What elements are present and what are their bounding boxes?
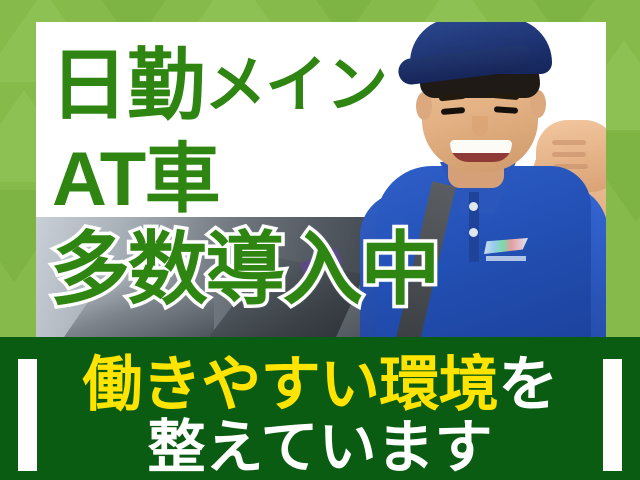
- footer-line-2: 整えています: [0, 419, 640, 477]
- recruitment-banner: 日勤メイン AT車 多数導入中 働きやすい環境を 整えています: [0, 0, 640, 480]
- logo-wordmark: [486, 256, 526, 261]
- footer-message-bar: 働きやすい環境を 整えています: [0, 337, 640, 480]
- content-card: 日勤メイン AT車 多数導入中: [36, 22, 606, 337]
- knuckle-line: [552, 152, 586, 157]
- shirt-button: [469, 202, 478, 211]
- photo-composite: [36, 22, 606, 337]
- logo-mark: [484, 238, 528, 254]
- footer-line-1: 働きやすい環境を: [0, 355, 640, 415]
- knuckle-line: [552, 140, 586, 145]
- company-logo-icon: [484, 238, 528, 264]
- teeth: [450, 140, 512, 153]
- shirt-button: [469, 228, 478, 237]
- footer-line-1-highlight: 働きやすい環境: [82, 351, 498, 418]
- footer-line-1-tail: を: [498, 351, 557, 418]
- smiling-mouth: [450, 140, 512, 162]
- nose: [472, 116, 488, 136]
- car-part: [64, 263, 214, 337]
- staff-photo: [336, 22, 606, 337]
